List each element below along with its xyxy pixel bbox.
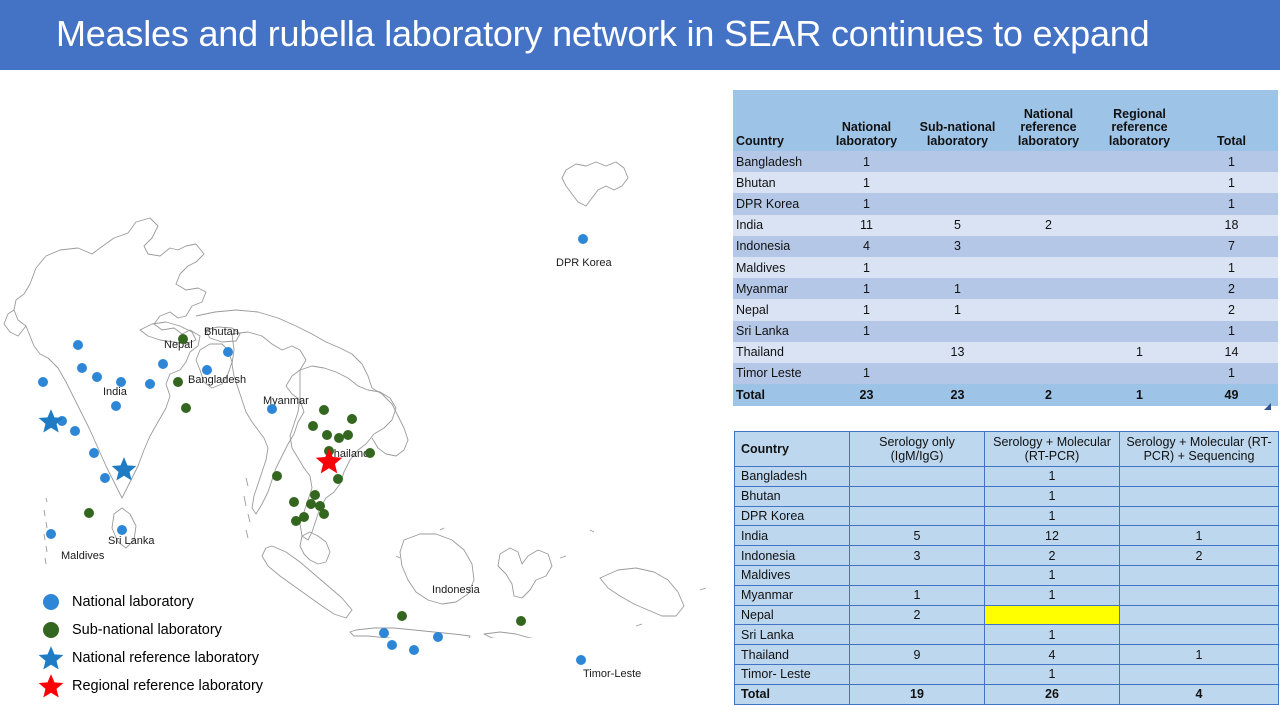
map-marker-sub-national-laboratory (397, 611, 407, 621)
map-label-bhutan: Bhutan (204, 326, 239, 338)
map-marker-sub-national-laboratory (84, 508, 94, 518)
cell-value (1003, 342, 1094, 363)
map-label-maldives: Maldives (61, 550, 104, 562)
map-marker-sub-national-laboratory (291, 516, 301, 526)
table-row: Bangladesh1 (735, 467, 1279, 487)
cell-country: Indonesia (733, 236, 821, 257)
th-serology-molecular: Serology + Molecular (RT-PCR) (985, 432, 1120, 467)
table-row: Indonesia437 (733, 236, 1278, 257)
map-legend: National laboratory Sub-national laborat… (34, 588, 263, 700)
cell-value: 1 (1120, 645, 1279, 665)
table1-resize-handle[interactable] (1264, 403, 1271, 410)
map-marker-national-laboratory (578, 234, 588, 244)
title-bar: Measles and rubella laboratory network i… (0, 0, 1280, 70)
cell-value (1003, 321, 1094, 342)
map-marker-national-laboratory (202, 365, 212, 375)
national-reference-laboratory-star-icon (34, 645, 68, 671)
cell-country: Maldives (733, 257, 821, 278)
sear-region-map (0, 78, 720, 638)
th-total: Total (1185, 90, 1278, 151)
cell-value (1094, 321, 1185, 342)
cell-value (1120, 467, 1279, 487)
cell-value: 1 (985, 467, 1120, 487)
table-row: Sri Lanka11 (733, 321, 1278, 342)
table-row: Myanmar112 (733, 278, 1278, 299)
cell-value (1120, 506, 1279, 526)
cell-value (912, 193, 1003, 214)
map-label-dpr-korea: DPR Korea (556, 257, 612, 269)
map-marker-national-laboratory (70, 426, 80, 436)
table-total-row: Total19264 (735, 684, 1279, 704)
cell-value (850, 664, 985, 684)
cell-value: 5 (912, 215, 1003, 236)
cell-value: 1 (821, 299, 912, 320)
map-marker-sub-national-laboratory (272, 471, 282, 481)
map-marker-sub-national-laboratory (319, 509, 329, 519)
cell-value: 4 (821, 236, 912, 257)
cell-value (1003, 151, 1094, 172)
cell-value: 12 (985, 526, 1120, 546)
table-row: Myanmar11 (735, 585, 1279, 605)
cell-value: 1 (985, 625, 1120, 645)
cell-value (1094, 193, 1185, 214)
table-row: Indonesia322 (735, 546, 1279, 566)
legend-item-national-reference-laboratory: National reference laboratory (34, 644, 263, 672)
regional-reference-laboratory-star-icon (34, 673, 68, 699)
cell-country: Nepal (733, 299, 821, 320)
cell-value: 2 (985, 546, 1120, 566)
cell-country: Thailand (733, 342, 821, 363)
map-marker-national-laboratory (116, 377, 126, 387)
map-marker-national-laboratory (223, 347, 233, 357)
cell-value: 9 (850, 645, 985, 665)
cell-value (1120, 625, 1279, 645)
sub-national-laboratory-dot-icon (34, 622, 68, 638)
cell-total-value: 4 (1120, 684, 1279, 704)
table-header-row: Country Serology only (IgM/IgG) Serology… (735, 432, 1279, 467)
cell-value (1120, 664, 1279, 684)
table-row: Sri Lanka1 (735, 625, 1279, 645)
cell-value: 5 (850, 526, 985, 546)
cell-country: Bangladesh (735, 467, 850, 487)
map-marker-national-laboratory (267, 404, 277, 414)
cell-value (912, 257, 1003, 278)
map-marker-national-laboratory (576, 655, 586, 665)
cell-value: 1 (985, 585, 1120, 605)
cell-total-value: 2 (1003, 384, 1094, 406)
cell-value (1094, 363, 1185, 384)
cell-value: 14 (1185, 342, 1278, 363)
map-marker-sub-national-laboratory (173, 377, 183, 387)
cell-country: Indonesia (735, 546, 850, 566)
legend-item-national-laboratory: National laboratory (34, 588, 263, 616)
map-marker-national-laboratory (387, 640, 397, 650)
table-row: Maldives11 (733, 257, 1278, 278)
cell-value: 1 (1185, 172, 1278, 193)
table-row: Timor- Leste1 (735, 664, 1279, 684)
legend-label-national-reference-laboratory: National reference laboratory (72, 650, 259, 666)
cell-value (1003, 299, 1094, 320)
cell-country: Bhutan (735, 486, 850, 506)
cell-value: 1 (821, 172, 912, 193)
cell-value: 1 (985, 486, 1120, 506)
map-label-bangladesh: Bangladesh (188, 374, 246, 386)
cell-value (1094, 215, 1185, 236)
map-marker-sub-national-laboratory (343, 430, 353, 440)
cell-country: DPR Korea (735, 506, 850, 526)
cell-value: 1 (821, 193, 912, 214)
cell-country: Sri Lanka (735, 625, 850, 645)
page-title: Measles and rubella laboratory network i… (56, 13, 1149, 55)
cell-value (912, 172, 1003, 193)
table-header-row: Country National laboratory Sub-national… (733, 90, 1278, 151)
cell-value (1120, 605, 1279, 625)
map-marker-national-reference-laboratory (111, 456, 137, 482)
map-marker-sub-national-laboratory (178, 334, 188, 344)
th-regional-reference-laboratory: Regional reference laboratory (1094, 90, 1185, 151)
cell-value (850, 467, 985, 487)
map-label-india: India (103, 386, 127, 398)
map-marker-national-laboratory (100, 473, 110, 483)
cell-value: 1 (1185, 363, 1278, 384)
map-marker-national-laboratory (158, 359, 168, 369)
cell-value (1120, 585, 1279, 605)
map-marker-sub-national-laboratory (347, 414, 357, 424)
table-row: DPR Korea11 (733, 193, 1278, 214)
cell-total-value: 26 (985, 684, 1120, 704)
map-marker-sub-national-laboratory (308, 421, 318, 431)
cell-value (912, 363, 1003, 384)
map-marker-regional-reference-laboratory (315, 447, 343, 475)
cell-value: 1 (821, 257, 912, 278)
map-marker-sub-national-laboratory (319, 405, 329, 415)
map-marker-sub-national-laboratory (289, 497, 299, 507)
map-marker-national-laboratory (145, 379, 155, 389)
map-label-sri-lanka: Sri Lanka (108, 535, 154, 547)
laboratory-counts-table: Country National laboratory Sub-national… (733, 90, 1278, 406)
table-row: Bhutan11 (733, 172, 1278, 193)
cell-value: 1 (1185, 151, 1278, 172)
th-national-laboratory: National laboratory (821, 90, 912, 151)
cell-country: Thailand (735, 645, 850, 665)
map-label-indonesia: Indonesia (432, 584, 480, 596)
cell-value (1120, 486, 1279, 506)
th-sub-national-laboratory: Sub-national laboratory (912, 90, 1003, 151)
map-marker-national-laboratory (46, 529, 56, 539)
table-row: Bangladesh11 (733, 151, 1278, 172)
map-marker-national-laboratory (92, 372, 102, 382)
map-marker-national-laboratory (379, 628, 389, 638)
cell-value: 1 (1094, 342, 1185, 363)
cell-value (1094, 151, 1185, 172)
cell-value (850, 625, 985, 645)
map-marker-national-laboratory (73, 340, 83, 350)
legend-label-regional-reference-laboratory: Regional reference laboratory (72, 678, 263, 694)
cell-value: 3 (912, 236, 1003, 257)
cell-country: Timor Leste (733, 363, 821, 384)
cell-value (1003, 172, 1094, 193)
cell-value (1094, 172, 1185, 193)
cell-value: 2 (850, 605, 985, 625)
cell-value: 13 (912, 342, 1003, 363)
table-row: DPR Korea1 (735, 506, 1279, 526)
cell-value: 1 (1185, 257, 1278, 278)
map-marker-national-laboratory (38, 377, 48, 387)
map-marker-national-laboratory (77, 363, 87, 373)
cell-value (1094, 236, 1185, 257)
cell-country: Nepal (735, 605, 850, 625)
map-marker-sub-national-laboratory (306, 499, 316, 509)
cell-value: 1 (1185, 321, 1278, 342)
cell-country: DPR Korea (733, 193, 821, 214)
cell-value: 2 (1185, 299, 1278, 320)
cell-value (850, 506, 985, 526)
legend-label-sub-national-laboratory: Sub-national laboratory (72, 622, 222, 638)
table-row: India115218 (733, 215, 1278, 236)
cell-country: Myanmar (733, 278, 821, 299)
table-row: Thailand13114 (733, 342, 1278, 363)
cell-total-value: 23 (912, 384, 1003, 406)
cell-total-value: 19 (850, 684, 985, 704)
cell-value (912, 151, 1003, 172)
table-row: Timor Leste11 (733, 363, 1278, 384)
map-marker-sub-national-laboratory (516, 616, 526, 626)
map-marker-national-laboratory (117, 525, 127, 535)
cell-country: India (733, 215, 821, 236)
table-row: Maldives1 (735, 565, 1279, 585)
th-country: Country (733, 90, 821, 151)
table-row: Nepal112 (733, 299, 1278, 320)
cell-value: 3 (850, 546, 985, 566)
cell-total-label: Total (733, 384, 821, 406)
cell-value: 2 (1120, 546, 1279, 566)
cell-value: 7 (1185, 236, 1278, 257)
cell-value: 18 (1185, 215, 1278, 236)
legend-item-regional-reference-laboratory: Regional reference laboratory (34, 672, 263, 700)
map-marker-national-laboratory (89, 448, 99, 458)
map-marker-national-reference-laboratory (38, 408, 64, 434)
cell-value (1003, 278, 1094, 299)
map-marker-national-laboratory (433, 632, 443, 642)
map-marker-national-laboratory (409, 645, 419, 655)
cell-value-highlighted (985, 605, 1120, 625)
table-row: India5121 (735, 526, 1279, 546)
cell-value (1003, 257, 1094, 278)
map-marker-sub-national-laboratory (365, 448, 375, 458)
cell-value: 1 (821, 278, 912, 299)
cell-value: 1 (821, 363, 912, 384)
cell-country: Timor- Leste (735, 664, 850, 684)
cell-value: 1 (912, 299, 1003, 320)
th-serology-only: Serology only (IgM/IgG) (850, 432, 985, 467)
cell-value (821, 342, 912, 363)
cell-country: Maldives (735, 565, 850, 585)
cell-value: 2 (1185, 278, 1278, 299)
cell-value (1094, 278, 1185, 299)
cell-value: 11 (821, 215, 912, 236)
cell-value: 1 (912, 278, 1003, 299)
cell-value (1120, 565, 1279, 585)
cell-value (1003, 363, 1094, 384)
cell-value (912, 321, 1003, 342)
national-laboratory-dot-icon (34, 594, 68, 610)
table-row: Thailand941 (735, 645, 1279, 665)
cell-value: 1 (1185, 193, 1278, 214)
cell-country: Myanmar (735, 585, 850, 605)
cell-value (1003, 193, 1094, 214)
cell-country: Bhutan (733, 172, 821, 193)
cell-value (850, 486, 985, 506)
table-row: Bhutan1 (735, 486, 1279, 506)
th-country: Country (735, 432, 850, 467)
cell-value: 1 (985, 506, 1120, 526)
cell-value: 2 (1003, 215, 1094, 236)
cell-value (1094, 299, 1185, 320)
map-marker-sub-national-laboratory (322, 430, 332, 440)
laboratory-capacity-table: Country Serology only (IgM/IgG) Serology… (734, 431, 1279, 705)
cell-value: 1 (1120, 526, 1279, 546)
map-marker-national-laboratory (111, 401, 121, 411)
cell-value: 4 (985, 645, 1120, 665)
cell-country: Sri Lanka (733, 321, 821, 342)
cell-value: 1 (985, 664, 1120, 684)
th-serology-molecular-sequencing: Serology + Molecular (RT-PCR) + Sequenci… (1120, 432, 1279, 467)
cell-value: 1 (985, 565, 1120, 585)
map-label-timor-leste: Timor-Leste (583, 668, 641, 680)
cell-value (1094, 257, 1185, 278)
cell-value: 1 (821, 321, 912, 342)
cell-total-value: 23 (821, 384, 912, 406)
cell-country: Bangladesh (733, 151, 821, 172)
th-national-reference-laboratory: National reference laboratory (1003, 90, 1094, 151)
table-row: Nepal2 (735, 605, 1279, 625)
legend-label-national-laboratory: National laboratory (72, 594, 194, 610)
legend-item-sub-national-laboratory: Sub-national laboratory (34, 616, 263, 644)
cell-value (1003, 236, 1094, 257)
map-panel: DPR Korea Bhutan Nepal India Bangladesh … (0, 78, 720, 638)
cell-value: 1 (850, 585, 985, 605)
cell-total-value: 1 (1094, 384, 1185, 406)
map-marker-sub-national-laboratory (181, 403, 191, 413)
cell-total-label: Total (735, 684, 850, 704)
cell-value: 1 (821, 151, 912, 172)
cell-country: India (735, 526, 850, 546)
table-total-row: Total23232149 (733, 384, 1278, 406)
map-marker-sub-national-laboratory (333, 474, 343, 484)
cell-value (850, 565, 985, 585)
